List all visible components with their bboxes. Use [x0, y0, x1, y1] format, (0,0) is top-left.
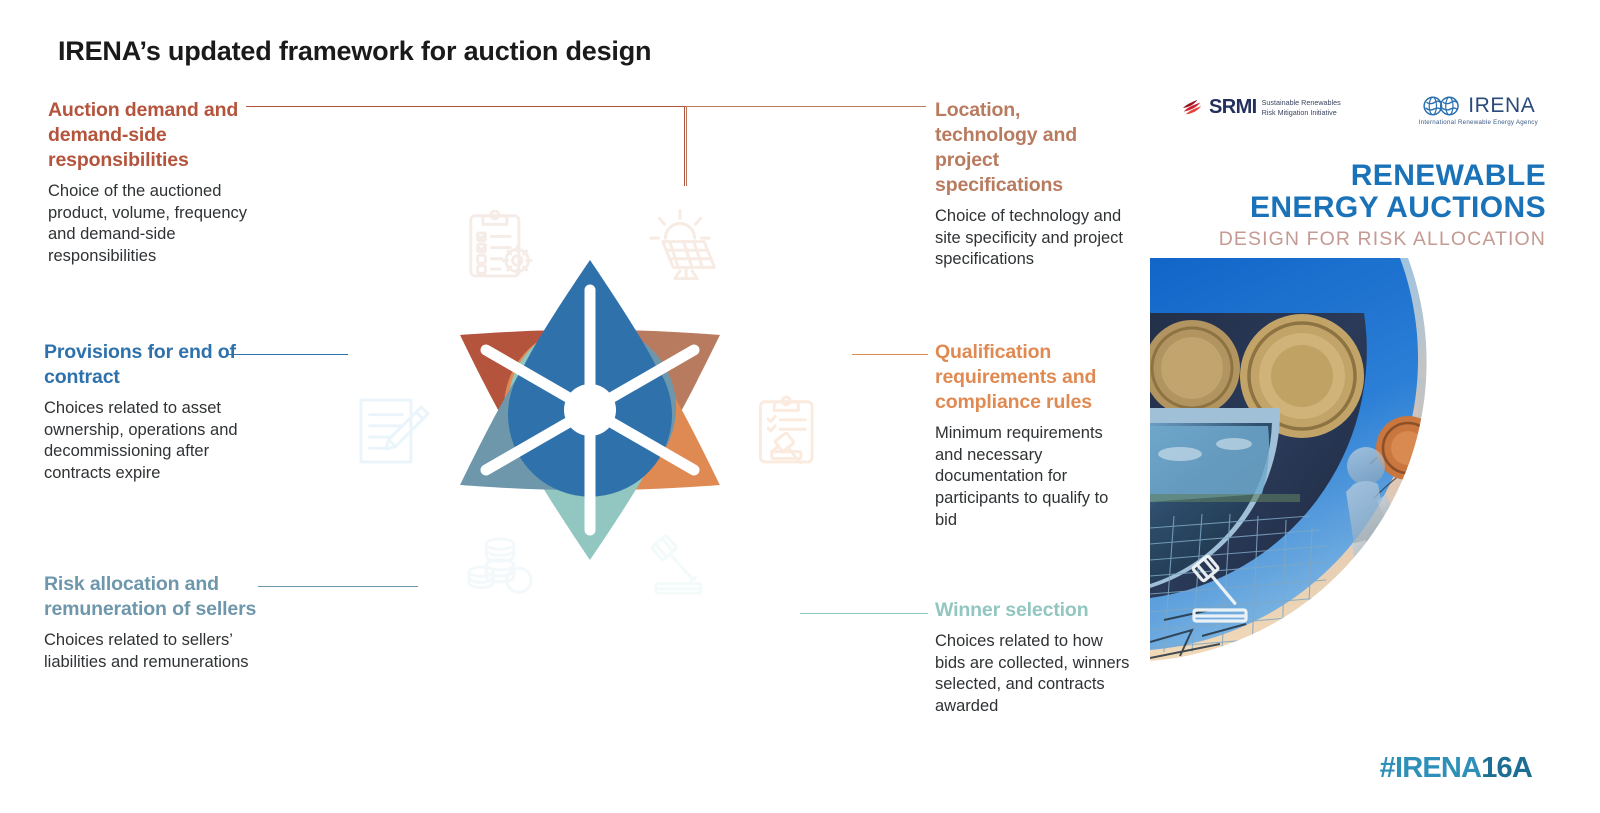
srmi-tagline: Sustainable Renewables Risk Mitigation I…	[1262, 98, 1341, 117]
srmi-wordmark: SRMI	[1209, 96, 1257, 119]
callout-heading-location-technology: Location, technology and project specifi…	[935, 98, 1110, 198]
callout-provisions: Provisions for end of contract Choices r…	[44, 340, 254, 485]
srmi-logo: SRMI Sustainable Renewables Risk Mitigat…	[1182, 96, 1341, 119]
cover-title-line1: RENEWABLE	[1176, 160, 1546, 192]
callout-body-risk-allocation: Choices related to sellers’ liabilities …	[44, 630, 259, 674]
cover-title-line2: ENERGY AUCTIONS	[1176, 192, 1546, 224]
irena-globes-icon	[1421, 95, 1463, 117]
cover-collage-artwork	[1150, 258, 1550, 661]
callout-heading-provisions: Provisions for end of contract	[44, 340, 254, 390]
page-title: IRENA’s updated framework for auction de…	[58, 36, 651, 67]
srmi-swoosh-icon	[1182, 97, 1204, 119]
cover-subtitle: DESIGN FOR RISK ALLOCATION	[1176, 228, 1546, 251]
callout-heading-auction-demand: Auction demand and demand-side responsib…	[48, 98, 278, 173]
campaign-hashtag: #IRENA16A	[1380, 752, 1532, 785]
callout-heading-qualification: Qualification requirements and complianc…	[935, 340, 1135, 415]
connector-qualification	[852, 354, 928, 356]
srmi-tagline-line1: Sustainable Renewables	[1262, 98, 1341, 108]
callout-location-technology: Location, technology and project specifi…	[935, 98, 1110, 271]
report-cover-panel: SRMI Sustainable Renewables Risk Mitigat…	[1150, 86, 1550, 661]
callout-qualification: Qualification requirements and complianc…	[935, 340, 1135, 532]
cover-title: RENEWABLE ENERGY AUCTIONS DESIGN FOR RIS…	[1176, 160, 1546, 251]
srmi-tagline-line2: Risk Mitigation Initiative	[1262, 108, 1341, 118]
callout-body-winner-selection: Choices related to how bids are collecte…	[935, 631, 1135, 718]
auction-design-framework-diagram	[330, 140, 850, 680]
callout-risk-allocation: Risk allocation and remuneration of sell…	[44, 572, 259, 673]
callout-auction-demand: Auction demand and demand-side responsib…	[48, 98, 278, 268]
callout-heading-risk-allocation: Risk allocation and remuneration of sell…	[44, 572, 259, 622]
irena-logo: IRENA International Renewable Energy Age…	[1419, 94, 1538, 126]
callout-body-qualification: Minimum requirements and necessary docum…	[935, 423, 1130, 532]
hashtag-suffix: 16A	[1481, 752, 1532, 784]
callout-winner-selection: Winner selection Choices related to how …	[935, 598, 1145, 718]
hashtag-prefix: #IRENA	[1380, 752, 1482, 784]
callout-body-location-technology: Choice of technology and site specificit…	[935, 206, 1135, 271]
irena-wordmark: IRENA	[1468, 94, 1535, 118]
callout-body-auction-demand: Choice of the auctioned product, volume,…	[48, 181, 278, 268]
irena-tagline: International Renewable Energy Agency	[1419, 119, 1538, 126]
logo-row: SRMI Sustainable Renewables Risk Mitigat…	[1150, 86, 1550, 132]
callout-body-provisions: Choices related to asset ownership, oper…	[44, 398, 254, 485]
infographic-slide: IRENA’s updated framework for auction de…	[0, 0, 1600, 813]
callout-heading-winner-selection: Winner selection	[935, 598, 1145, 623]
